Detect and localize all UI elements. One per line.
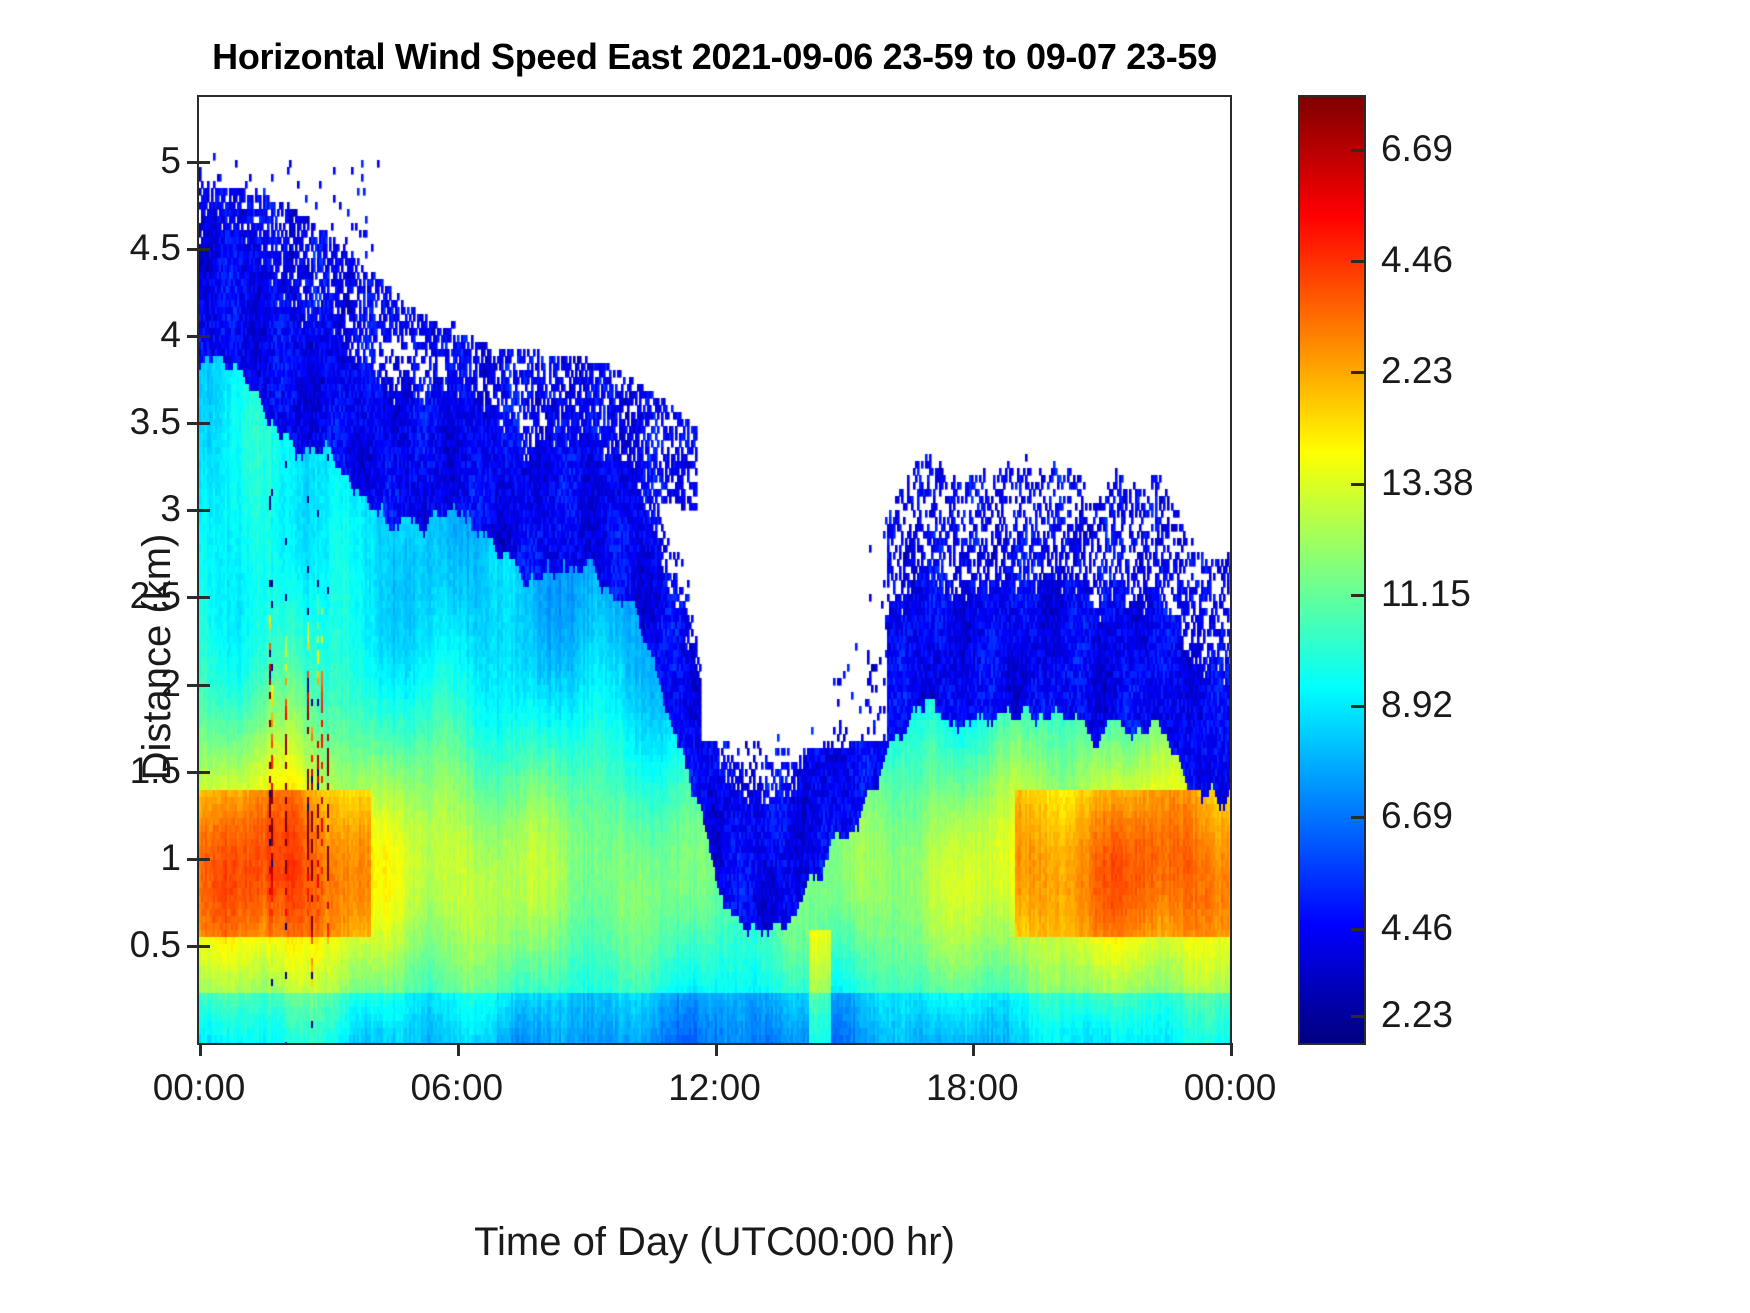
y-tick-mark-inner [199, 858, 210, 861]
heatmap-axes[interactable]: 54.543.532.521.510.500:0006:0012:0018:00… [197, 95, 1232, 1045]
x-tick-label: 06:00 [410, 1067, 503, 1109]
y-tick-mark [187, 858, 199, 861]
y-tick-mark-inner [199, 684, 210, 687]
colorbar-tick-mark [1351, 928, 1364, 931]
colorbar-gradient [1300, 97, 1364, 1043]
y-tick-mark-inner [199, 248, 210, 251]
y-tick-mark [187, 335, 199, 338]
y-tick-label: 4.5 [130, 227, 181, 269]
y-tick-label: 0.5 [130, 924, 181, 966]
colorbar-tick-mark [1351, 149, 1364, 152]
y-tick-label: 3 [160, 488, 181, 530]
y-tick-mark-inner [199, 335, 210, 338]
colorbar-tick-label: 2.23 [1381, 994, 1453, 1036]
x-tick-mark [715, 1043, 718, 1056]
y-tick-mark [187, 248, 199, 251]
x-tick-mark [972, 1043, 975, 1056]
y-tick-mark-inner [199, 945, 210, 948]
colorbar-tick-mark [1351, 260, 1364, 263]
colorbar-tick-label: 11.15 [1381, 573, 1471, 615]
y-tick-mark [187, 596, 199, 599]
x-tick-label: 00:00 [1184, 1067, 1277, 1109]
page-title: Horizontal Wind Speed East 2021-09-06 23… [197, 36, 1232, 78]
colorbar[interactable]: 6.694.462.2313.3811.158.926.694.462.23 [1298, 95, 1366, 1045]
colorbar-tick-label: 6.69 [1381, 795, 1453, 837]
y-tick-mark [187, 771, 199, 774]
y-tick-mark-inner [199, 422, 210, 425]
y-tick-mark [187, 509, 199, 512]
y-tick-mark [187, 945, 199, 948]
y-tick-label: 1 [160, 837, 181, 879]
x-tick-mark [457, 1043, 460, 1056]
colorbar-tick-label: 13.38 [1381, 462, 1474, 504]
colorbar-tick-mark [1351, 594, 1364, 597]
y-tick-mark [187, 684, 199, 687]
y-tick-mark [187, 422, 199, 425]
colorbar-tick-label: 4.46 [1381, 239, 1453, 281]
y-tick-mark-inner [199, 161, 210, 164]
colorbar-tick-mark [1351, 483, 1364, 486]
x-axis-label: Time of Day (UTC00:00 hr) [197, 1220, 1232, 1265]
x-tick-label: 12:00 [668, 1067, 761, 1109]
colorbar-tick-label: 8.92 [1381, 684, 1453, 726]
colorbar-tick-mark [1351, 371, 1364, 374]
y-tick-label: 5 [160, 140, 181, 182]
x-tick-mark [199, 1043, 202, 1056]
colorbar-tick-label: 2.23 [1381, 350, 1453, 392]
colorbar-tick-mark [1351, 816, 1364, 819]
figure-container: Horizontal Wind Speed East 2021-09-06 23… [0, 0, 1750, 1313]
y-axis-label: Distance (km) [135, 533, 180, 780]
colorbar-tick-mark [1351, 705, 1364, 708]
colorbar-tick-mark [1351, 1015, 1364, 1018]
y-tick-mark-inner [199, 771, 210, 774]
x-tick-mark [1230, 1043, 1233, 1056]
x-tick-label: 00:00 [153, 1067, 246, 1109]
y-tick-label: 3.5 [130, 401, 181, 443]
wind-speed-heatmap[interactable] [199, 97, 1230, 1043]
colorbar-tick-label: 6.69 [1381, 128, 1453, 170]
y-tick-mark [187, 161, 199, 164]
y-tick-mark-inner [199, 509, 210, 512]
y-tick-label: 4 [160, 314, 181, 356]
x-tick-label: 18:00 [926, 1067, 1019, 1109]
y-tick-mark-inner [199, 596, 210, 599]
colorbar-tick-label: 4.46 [1381, 907, 1453, 949]
